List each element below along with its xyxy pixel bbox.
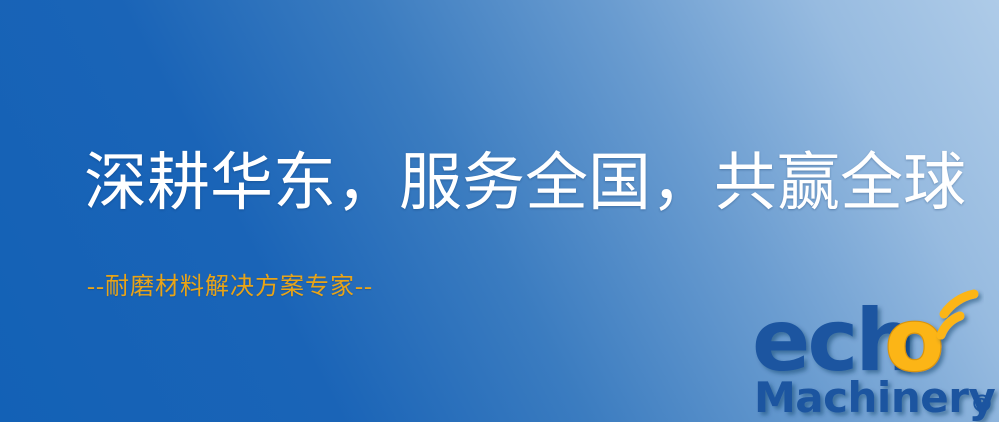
echo-wave-icon: [941, 294, 974, 335]
hero-banner: 深耕华东，服务全国，共赢全球 --耐磨材料解决方案专家-- ech o: [0, 0, 999, 422]
logo-tagline-text: Machinery: [754, 373, 995, 422]
company-logo[interactable]: ech o Machinery ®: [748, 288, 999, 422]
logo-registered-mark: ®: [970, 390, 994, 418]
page-subtitle: --耐磨材料解决方案专家--: [87, 266, 373, 301]
page-title: 深耕华东，服务全国，共赢全球: [84, 152, 944, 215]
